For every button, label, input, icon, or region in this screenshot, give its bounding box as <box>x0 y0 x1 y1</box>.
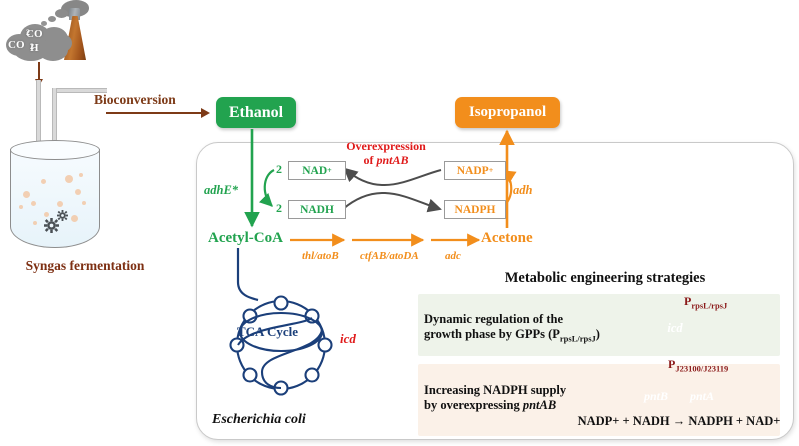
nadh-box: NADH <box>288 200 346 219</box>
smoke-puff-icon <box>55 9 68 18</box>
acetyl-coa-label: Acetyl-CoA <box>208 230 283 247</box>
enzyme-label-thl-atob: thl/atoB <box>302 250 339 262</box>
adh-enzyme-label: adh <box>513 183 532 198</box>
gas-inflow-arrow-icon <box>38 62 40 81</box>
strategy-2-line1: Increasing NADPH supply <box>424 383 604 398</box>
ethanol-box[interactable]: Ethanol <box>216 97 296 128</box>
fermentation-vessel-rim <box>10 140 100 160</box>
strategy-1-line1: Dynamic regulation of the <box>424 312 614 327</box>
strategy-2-line2: by overexpressing pntAB <box>424 398 604 413</box>
nadh-stoichiometry: 2 <box>276 201 282 216</box>
overexpression-annotation: Overexpression of pntAB <box>325 140 447 167</box>
gene-label-pnta: pntA <box>684 389 720 404</box>
strategy-1-text: Dynamic regulation of the growth phase b… <box>424 312 614 347</box>
strategy-2-text: Increasing NADPH supply by overexpressin… <box>424 383 604 413</box>
strategy-1-line2: growth phase by GPPs (PrpsL/rpsJ) <box>424 327 614 347</box>
nadph-reaction-equation: NADP+ + NADH → NADPH + NAD+ <box>565 414 793 429</box>
isopropanol-box[interactable]: Isopropanol <box>455 97 560 128</box>
enzyme-label-ctfab-atoda: ctfAB/atoDA <box>360 250 419 262</box>
gene-label-pntb: pntB <box>638 389 674 404</box>
bioconversion-arrow-icon <box>106 112 202 114</box>
nad-stoichiometry: 2 <box>276 162 282 177</box>
nadp-plus-box: NADP+ <box>444 161 506 180</box>
strategies-title: Metabolic engineering strategies <box>435 270 775 287</box>
promoter-label-j23100-j23119: PJ23100/J23119 <box>668 357 728 373</box>
organism-label: Escherichia coli <box>212 412 306 428</box>
gene-label-icd: icd <box>660 321 690 336</box>
gas-composition-labels: CO CO2 H2 <box>6 26 72 60</box>
overexpression-line2: of pntAB <box>325 154 447 168</box>
overexpression-line1: Overexpression <box>325 140 447 154</box>
promoter-label-rpsl-rpsj: PrpsL/rpsJ <box>684 294 727 310</box>
fermentation-vessel-body <box>10 149 100 248</box>
icd-pathway-label: icd <box>340 331 356 347</box>
gas-label-co: CO <box>8 40 25 51</box>
tca-cycle-label: TCA Cycle <box>237 324 298 340</box>
enzyme-label-adc: adc <box>445 250 461 262</box>
gear-icon <box>57 210 68 221</box>
syngas-fermentation-caption: Syngas fermentation <box>0 258 170 274</box>
adhE-enzyme-label: adhE* <box>204 183 238 198</box>
acetone-label: Acetone <box>481 230 533 247</box>
bioconversion-label: Bioconversion <box>94 92 176 108</box>
nadph-box: NADPH <box>444 200 506 219</box>
